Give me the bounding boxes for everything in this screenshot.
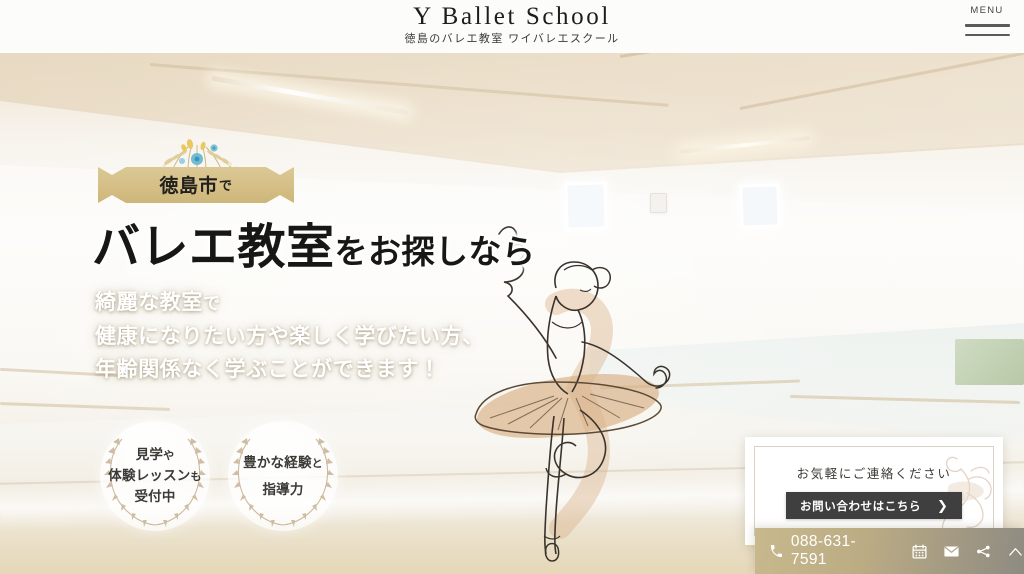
scroll-top-icon[interactable] xyxy=(1007,543,1024,560)
ribbon-label: 徳島市で xyxy=(98,167,294,203)
ribbon-particle: で xyxy=(219,175,233,194)
badge-line-1-main: 見学 xyxy=(136,447,163,462)
location-ribbon: 徳島市で xyxy=(98,139,298,205)
chevron-right-icon: ❯ xyxy=(937,499,948,512)
lead-line-2: 健康になりたい方や楽しく学びたい方、 xyxy=(95,320,484,353)
contact-card-inner: お気軽にご連絡ください お問い合わせはこちら ❯ xyxy=(754,446,994,536)
badge-line-2: 指導力 xyxy=(262,477,303,503)
site-header: Y Ballet School 徳島のバレエ教室 ワイバレエスクール MENU xyxy=(0,0,1024,53)
headline-tail: をお探しなら xyxy=(335,233,536,270)
lead-line-1: 綺麗な教室で xyxy=(95,286,484,320)
badge-line-2: 体験レッスンも xyxy=(108,466,201,487)
badge-line-2-suffix: も xyxy=(191,471,202,483)
menu-button[interactable]: MENU xyxy=(963,5,1011,36)
bottom-bar-icons xyxy=(911,543,1024,560)
ribbon-banner: 徳島市で xyxy=(98,167,294,203)
share-icon[interactable] xyxy=(975,543,992,560)
badge-line-1-main: 豊かな経験 xyxy=(243,455,312,470)
badge-line-1: 見学や xyxy=(136,445,175,466)
badge-line-1-suffix: と xyxy=(312,458,323,470)
badge-trial-lesson: 見学や 体験レッスンも 受付中 xyxy=(100,421,210,531)
badge-line-2-main: 体験レッスン xyxy=(108,468,190,483)
headline-main: バレエ教室 xyxy=(92,221,335,274)
phone-icon xyxy=(769,544,784,559)
badge-line-1-suffix: や xyxy=(163,450,174,462)
contact-lead-text: お気軽にご連絡ください xyxy=(797,463,952,482)
hero-section: 徳島市で バレエ教室をお探しなら 綺麗な教室で 健康になりたい方や楽しく学びたい… xyxy=(0,53,1024,574)
page-root: 徳島市で バレエ教室をお探しなら 綺麗な教室で 健康になりたい方や楽しく学びたい… xyxy=(0,0,1024,574)
menu-label: MENU xyxy=(963,5,1011,17)
hamburger-icon-bar-2 xyxy=(965,34,1010,37)
brand-subtitle: 徳島のバレエ教室 ワイバレエスクール xyxy=(0,32,1024,46)
mail-icon[interactable] xyxy=(943,543,960,560)
brand-title: Y Ballet School xyxy=(0,2,1024,31)
lead-line-3: 年齢関係なく学ぶことができます！ xyxy=(95,353,484,386)
badge-line-3: 受付中 xyxy=(134,487,175,507)
badge-text: 豊かな経験と 指導力 xyxy=(228,421,338,531)
contact-button[interactable]: お問い合わせはこちら ❯ xyxy=(786,492,962,519)
badge-experience: 豊かな経験と 指導力 xyxy=(228,421,338,531)
hero-badges: 見学や 体験レッスンも 受付中 xyxy=(100,421,338,531)
badge-text: 見学や 体験レッスンも 受付中 xyxy=(100,421,210,531)
ribbon-city: 徳島市 xyxy=(159,171,218,198)
calendar-icon[interactable] xyxy=(911,543,928,560)
phone-link[interactable]: 088-631-7591 xyxy=(755,533,891,569)
hamburger-icon-bar-1 xyxy=(965,24,1010,27)
hero-headline: バレエ教室をお探しなら xyxy=(92,220,536,280)
contact-button-label: お問い合わせはこちら xyxy=(800,498,921,514)
phone-number: 088-631-7591 xyxy=(791,533,891,569)
floating-contact-bar: 088-631-7591 xyxy=(755,528,1024,574)
lead-line-1-suffix: で xyxy=(203,294,221,313)
brand-block: Y Ballet School 徳島のバレエ教室 ワイバレエスクール xyxy=(0,2,1024,46)
badge-line-1: 豊かな経験と xyxy=(243,450,323,477)
lead-line-1-main: 綺麗な教室 xyxy=(95,291,203,314)
hero-lead-copy: 綺麗な教室で 健康になりたい方や楽しく学びたい方、 年齢関係なく学ぶことができま… xyxy=(95,286,484,386)
